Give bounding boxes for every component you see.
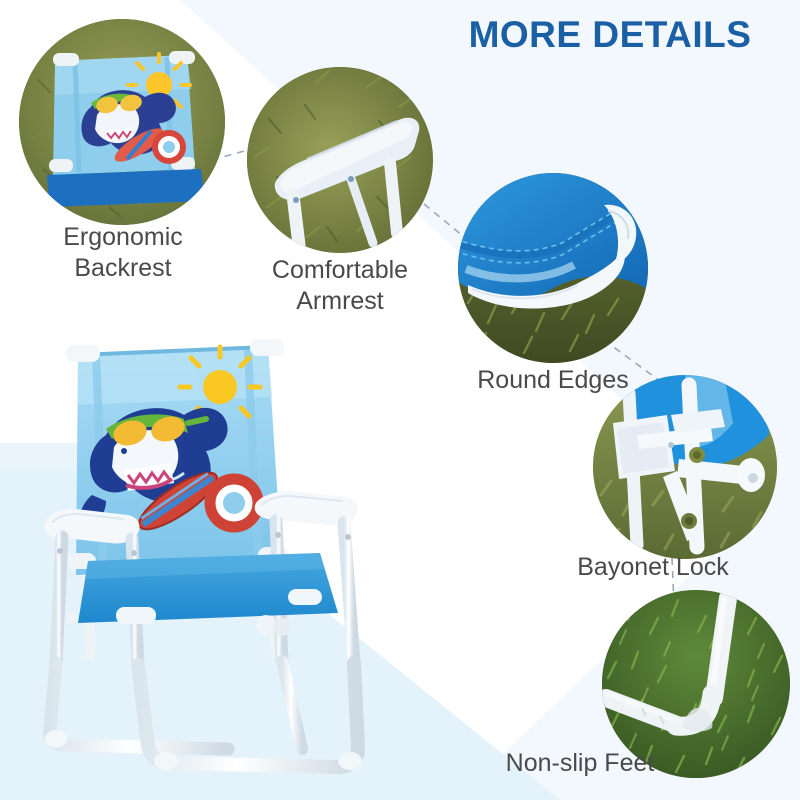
detail-photo-ergonomic-backrest bbox=[19, 19, 225, 225]
feature-label-ergonomic-backrest: Ergonomic Backrest bbox=[10, 222, 236, 283]
feature-label-comfortable-armrest: Comfortable Armrest bbox=[228, 255, 452, 316]
detail-photo-comfortable-armrest bbox=[247, 67, 433, 253]
detail-photo-round-edges bbox=[458, 173, 648, 363]
product-image-folding-chair bbox=[20, 325, 410, 785]
feature-label-bayonet-lock: Bayonet Lock bbox=[518, 552, 788, 583]
page-title: MORE DETAILS bbox=[430, 14, 790, 56]
feature-label-non-slip-feet: Non-slip Feet bbox=[460, 748, 700, 779]
infographic-canvas: MORE DETAILS bbox=[0, 0, 800, 800]
detail-photo-bayonet-lock bbox=[593, 375, 777, 559]
